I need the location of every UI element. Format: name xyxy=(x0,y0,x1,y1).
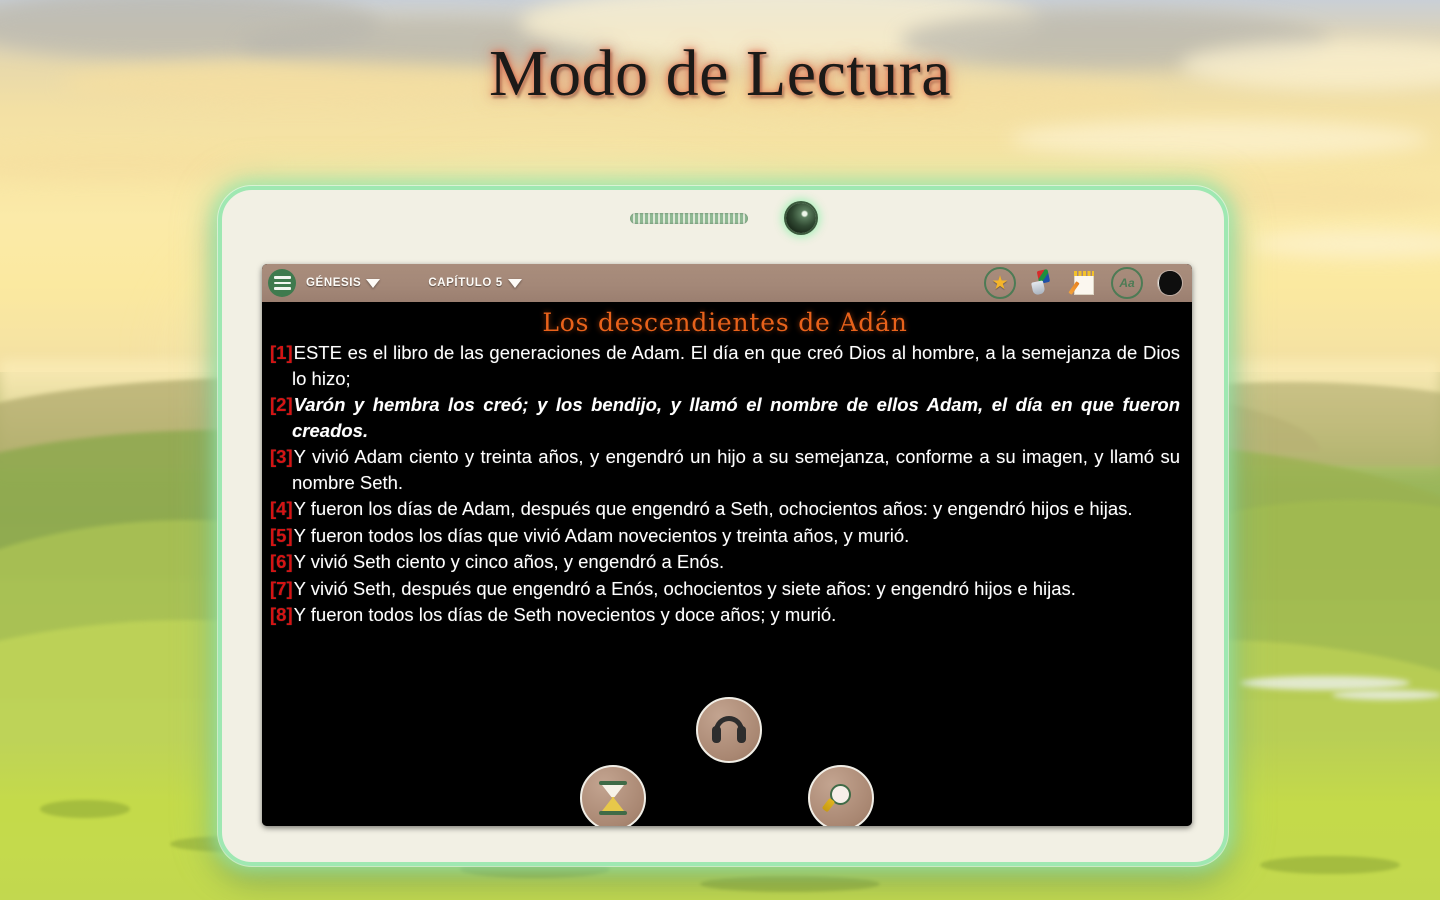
verse-number: [1] xyxy=(270,342,293,363)
moon-glyph xyxy=(1158,271,1182,295)
chapter-selector-label: CAPÍTULO 5 xyxy=(428,277,502,289)
notes-notepad-icon[interactable] xyxy=(1070,269,1098,297)
marker-glyph xyxy=(1030,269,1055,298)
verse-number: [8] xyxy=(270,604,293,625)
chevron-down-icon xyxy=(366,279,380,288)
verse-number: [5] xyxy=(270,525,293,546)
chevron-down-icon xyxy=(508,279,522,288)
headphones-icon xyxy=(712,716,746,744)
font-size-aa-icon[interactable]: Aa xyxy=(1111,267,1143,299)
verse-number: [2] xyxy=(270,394,293,415)
verse-number: [7] xyxy=(270,578,293,599)
tablet-device: GÉNESIS CAPÍTULO 5 ★ xyxy=(218,186,1228,866)
aa-glyph: Aa xyxy=(1119,276,1134,290)
water-stream xyxy=(1332,690,1440,700)
verse-number: [4] xyxy=(270,498,293,519)
verse-number: [3] xyxy=(270,446,293,467)
night-mode-moon-icon[interactable] xyxy=(1156,269,1184,297)
speaker-grille-icon xyxy=(630,213,748,224)
verse-row[interactable]: [4]Y fueron los días de Adam, después qu… xyxy=(270,496,1180,522)
verse-row[interactable]: [3]Y vivió Adam ciento y treinta años, y… xyxy=(270,444,1180,495)
verse-text: Y vivió Adam ciento y treinta años, y en… xyxy=(292,446,1180,493)
search-button[interactable] xyxy=(808,765,874,826)
tablet-top-bezel xyxy=(222,190,1224,246)
verse-text: Y vivió Seth ciento y cinco años, y enge… xyxy=(294,551,725,572)
book-selector[interactable]: GÉNESIS xyxy=(306,277,380,289)
audio-playback-button[interactable] xyxy=(696,697,762,763)
grass-texture xyxy=(1260,856,1400,874)
verse-text: Y fueron todos los días que vivió Adam n… xyxy=(294,525,910,546)
verse-row[interactable]: [7]Y vivió Seth, después que engendró a … xyxy=(270,576,1180,602)
grass-texture xyxy=(700,876,880,892)
highlighter-pen-icon[interactable] xyxy=(1029,269,1057,297)
hourglass-icon xyxy=(599,781,627,815)
book-selector-label: GÉNESIS xyxy=(306,277,361,289)
verse-number: [6] xyxy=(270,551,293,572)
grass-texture xyxy=(40,800,130,818)
tablet-screen: GÉNESIS CAPÍTULO 5 ★ xyxy=(262,264,1192,826)
background-scene: Modo de Lectura GÉNESIS CAPÍTULO 5 xyxy=(0,0,1440,900)
toolbar-icon-group: ★ xyxy=(984,267,1186,299)
app-toolbar: GÉNESIS CAPÍTULO 5 ★ xyxy=(262,264,1192,302)
verse-row[interactable]: [5]Y fueron todos los días que vivió Ada… xyxy=(270,523,1180,549)
page-title: Modo de Lectura xyxy=(0,36,1440,112)
verse-row[interactable]: [2]Varón y hembra los creó; y los bendij… xyxy=(270,392,1180,443)
hamburger-menu-icon[interactable] xyxy=(268,269,296,297)
verse-text: Y fueron los días de Adam, después que e… xyxy=(294,498,1133,519)
favorite-star-icon[interactable]: ★ xyxy=(984,267,1016,299)
reading-history-button[interactable] xyxy=(580,765,646,826)
chapter-heading: Los descendientes de Adán xyxy=(270,308,1180,337)
verse-row[interactable]: [1]ESTE es el libro de las generaciones … xyxy=(270,340,1180,391)
notepad-glyph xyxy=(1073,271,1096,296)
chapter-selector[interactable]: CAPÍTULO 5 xyxy=(428,277,521,289)
verse-row[interactable]: [8]Y fueron todos los días de Seth novec… xyxy=(270,602,1180,628)
verse-text: ESTE es el libro de las generaciones de … xyxy=(292,342,1180,389)
verse-text: Varón y hembra los creó; y los bendijo, … xyxy=(292,394,1180,441)
verse-text: Y fueron todos los días de Seth novecien… xyxy=(294,604,837,625)
star-glyph: ★ xyxy=(991,274,1008,293)
cloud xyxy=(1010,120,1430,158)
reader-content[interactable]: Los descendientes de Adán [1]ESTE es el … xyxy=(262,302,1192,826)
verse-row[interactable]: [6]Y vivió Seth ciento y cinco años, y e… xyxy=(270,549,1180,575)
front-camera-icon xyxy=(786,203,816,233)
water-stream xyxy=(1240,676,1410,690)
verse-text: Y vivió Seth, después que engendró a Enó… xyxy=(294,578,1076,599)
magnifier-icon xyxy=(825,782,857,814)
